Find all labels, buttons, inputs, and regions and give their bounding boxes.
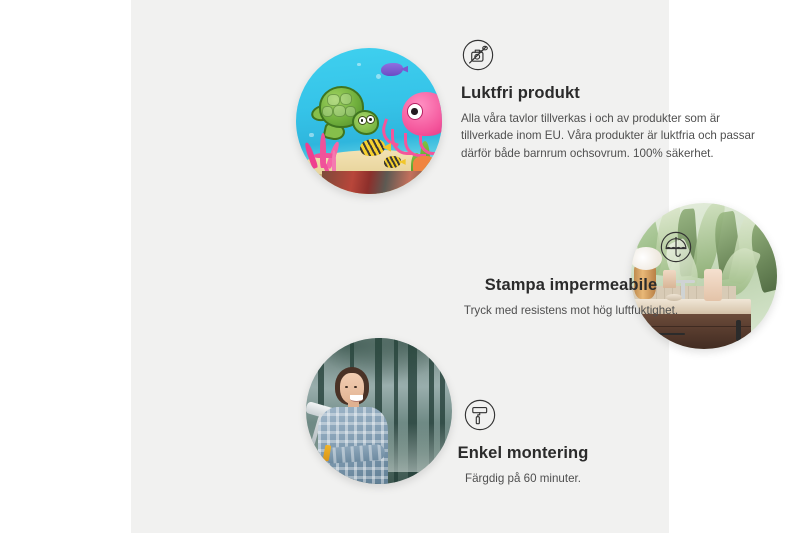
feature-assembly-title: Enkel montering	[423, 444, 623, 464]
photo-ocean-art	[296, 48, 442, 194]
umbrella-icon	[657, 228, 695, 266]
feature-waterproof-title: Stampa impermeabile	[356, 276, 786, 296]
feature-waterproof-description: Tryck med resistens mot hög luftfuktighe…	[356, 302, 786, 320]
feature-odourless: Luktfri produkt Alla våra tavlor tillver…	[461, 36, 761, 163]
feature-assembly-icon-wrap	[461, 396, 623, 434]
feature-odourless-description: Alla våra tavlor tillverkas i och av pro…	[461, 110, 761, 163]
feature-waterproof: Stampa impermeabile Tryck med resistens …	[356, 228, 786, 319]
feature-panel: Luktfri produkt Alla våra tavlor tillver…	[131, 0, 669, 533]
photo-ocean	[296, 48, 442, 194]
feature-assembly-description: Färgdig på 60 minuter.	[423, 470, 623, 488]
no-perfume-icon	[459, 36, 497, 74]
feature-odourless-icon-wrap	[459, 36, 761, 74]
feature-waterproof-icon-wrap	[566, 228, 786, 266]
feature-assembly: Enkel montering Färgdig på 60 minuter.	[423, 396, 623, 487]
turtle-figure	[314, 83, 378, 136]
octopus-figure	[389, 92, 442, 159]
feature-odourless-title: Luktfri produkt	[461, 84, 761, 104]
infographic-stage: Luktfri produkt Alla våra tavlor tillver…	[0, 0, 800, 533]
paint-roller-icon	[461, 396, 499, 434]
